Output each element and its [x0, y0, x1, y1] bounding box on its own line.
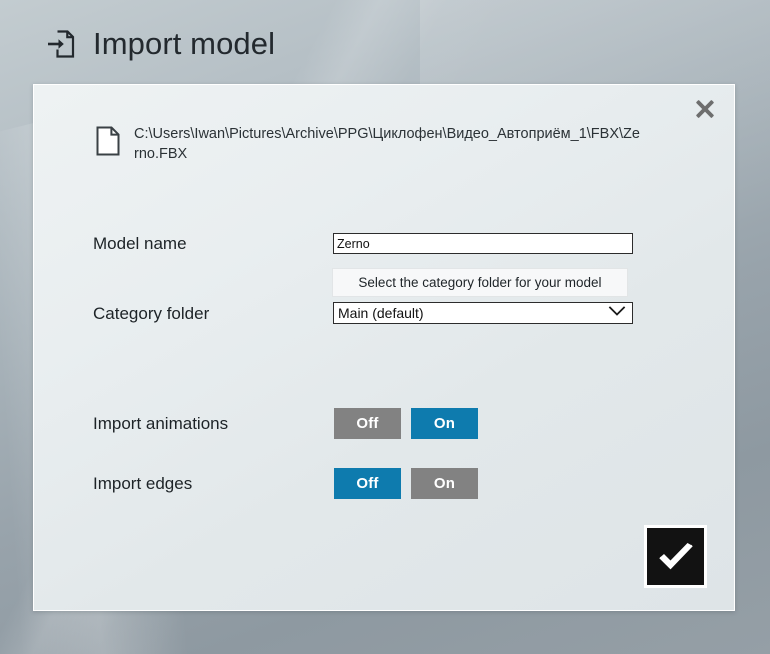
category-folder-selected-value: Main (default) [338, 305, 608, 321]
source-file-row: C:\Users\Iwan\Pictures\Archive\PPG\Цикло… [96, 124, 656, 164]
file-path-text: C:\Users\Iwan\Pictures\Archive\PPG\Цикло… [134, 124, 642, 164]
import-animations-toggle-group: Off On [334, 408, 478, 439]
model-name-label: Model name [93, 234, 187, 254]
import-animations-label: Import animations [93, 414, 228, 434]
category-folder-label: Category folder [93, 304, 209, 324]
import-edges-label: Import edges [93, 474, 192, 494]
page-title: Import model [93, 26, 275, 62]
import-animations-on-button[interactable]: On [411, 408, 478, 439]
import-edges-toggle-group: Off On [334, 468, 478, 499]
confirm-button[interactable] [644, 525, 707, 588]
import-edges-off-button[interactable]: Off [334, 468, 401, 499]
model-name-input[interactable] [333, 233, 633, 254]
checkmark-icon [657, 542, 695, 572]
category-folder-tooltip-text: Select the category folder for your mode… [358, 275, 601, 290]
chevron-down-icon [608, 304, 626, 322]
import-edges-on-button[interactable]: On [411, 468, 478, 499]
category-folder-tooltip: Select the category folder for your mode… [333, 269, 627, 296]
page-header: Import model [46, 26, 275, 62]
document-import-icon [46, 28, 76, 60]
close-icon[interactable] [688, 93, 722, 125]
category-folder-select[interactable]: Main (default) [333, 302, 633, 324]
file-icon [96, 126, 120, 161]
import-animations-off-button[interactable]: Off [334, 408, 401, 439]
